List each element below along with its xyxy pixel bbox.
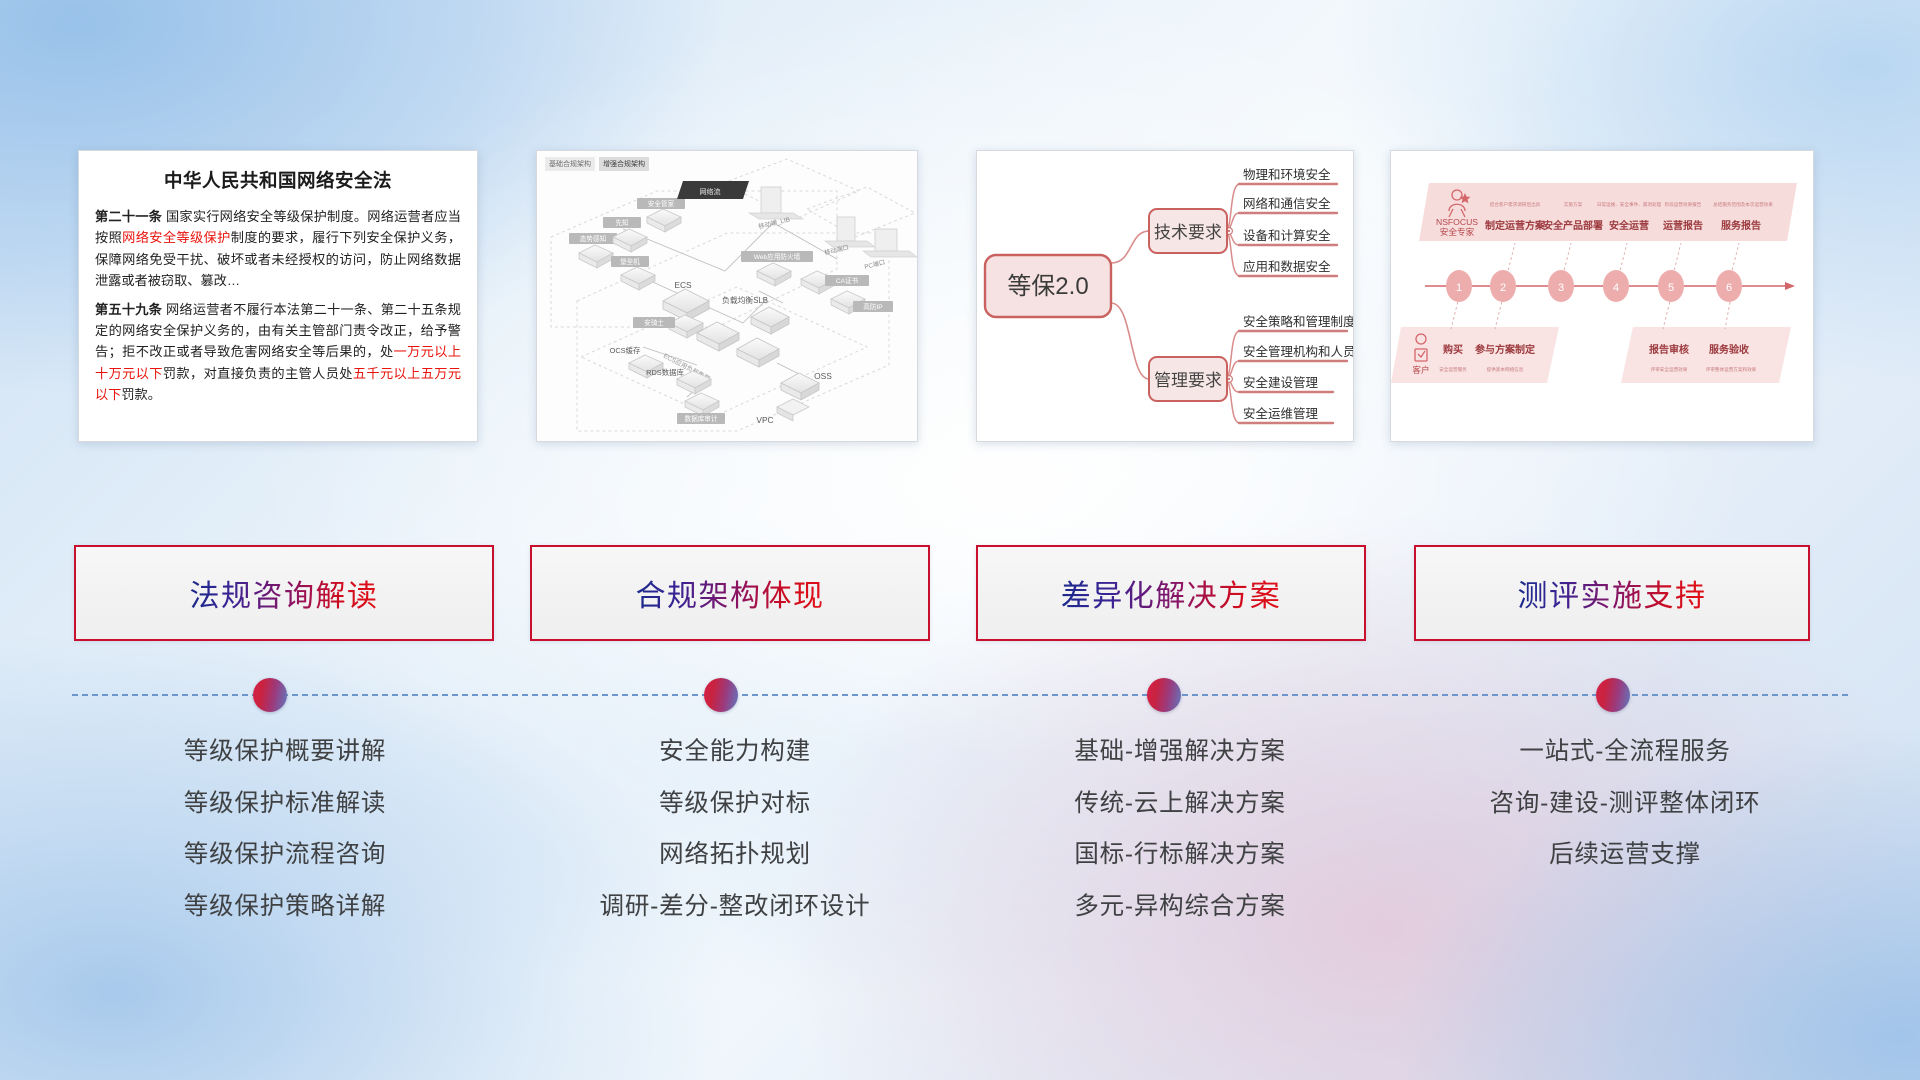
- law-paragraph-59: 第五十九条 网络运营者不履行本法第二十一条、第二十五条规定的网络安全保护义务的，…: [95, 299, 461, 406]
- svg-text:实施方案: 实施方案: [1564, 201, 1583, 208]
- list-item: 调研-差分-整改闭环设计: [520, 895, 950, 920]
- service-timeline-card[interactable]: 1 2 3 4 5 6: [1390, 150, 1814, 442]
- svg-text:6: 6: [1726, 282, 1732, 294]
- list-item: 一站式-全流程服务: [1410, 740, 1840, 765]
- svg-text:总结服务范围及本次运营效果: 总结服务范围及本次运营效果: [1713, 201, 1773, 208]
- headline-label-3: 差异化解决方案: [1061, 571, 1282, 615]
- svg-text:OCS缓存: OCS缓存: [610, 346, 641, 355]
- law-article-59-text-b: 罚款，对直接负责的主管人员处: [163, 366, 353, 381]
- list-item: 等级保护概要讲解: [70, 740, 500, 765]
- list-item: 等级保护策略详解: [70, 895, 500, 920]
- svg-text:高防IP: 高防IP: [863, 302, 883, 311]
- svg-text:安全建设管理: 安全建设管理: [1243, 375, 1319, 390]
- svg-text:安全管家: 安全管家: [648, 199, 675, 208]
- service-timeline-svg: 1 2 3 4 5 6: [1391, 151, 1814, 442]
- headline-label-2: 合规架构体现: [636, 571, 825, 615]
- svg-text:评审安全运营效果: 评审安全运营效果: [1651, 366, 1688, 373]
- svg-text:堡垒机: 堡垒机: [620, 257, 640, 266]
- svg-text:报告审核: 报告审核: [1649, 343, 1689, 356]
- headline-label-1: 法规咨询解读: [190, 571, 379, 615]
- svg-text:客户: 客户: [1412, 364, 1429, 375]
- svg-text:ECS: ECS: [674, 280, 692, 290]
- architecture-card[interactable]: 基础合规架构 增强合规架构: [536, 150, 918, 442]
- law-article-21-highlight: 网络安全等级保护: [122, 230, 231, 245]
- image-card-row: 中华人民共和国网络安全法 第二十一条 国家实行网络安全等级保护制度。网络运营者应…: [0, 150, 1920, 445]
- feature-column-3: 基础-增强解决方案 传统-云上解决方案 国标-行标解决方案 多元-异构综合方案: [965, 740, 1395, 919]
- svg-text:提供基本网络信息: 提供基本网络信息: [1487, 366, 1524, 373]
- svg-text:安骑士: 安骑士: [644, 318, 664, 327]
- svg-text:等保2.0: 等保2.0: [1007, 273, 1088, 300]
- law-article-59-label: 第五十九条: [95, 302, 166, 317]
- progress-timeline: [0, 660, 1920, 740]
- list-item: 基础-增强解决方案: [965, 740, 1395, 765]
- svg-text:阶段运营效果报告: 阶段运营效果报告: [1665, 201, 1702, 208]
- svg-text:管理要求: 管理要求: [1154, 371, 1222, 390]
- svg-text:网络流: 网络流: [700, 187, 721, 196]
- svg-text:4: 4: [1613, 282, 1619, 294]
- svg-text:应用和数据安全: 应用和数据安全: [1243, 259, 1331, 274]
- svg-text:安全管理机构和人员: 安全管理机构和人员: [1243, 344, 1354, 359]
- list-item: 等级保护对标: [520, 792, 950, 817]
- list-item: 网络拓扑规划: [520, 843, 950, 868]
- svg-text:网络和通信安全: 网络和通信安全: [1243, 196, 1331, 211]
- list-item: 等级保护流程咨询: [70, 843, 500, 868]
- svg-text:VPC: VPC: [756, 415, 773, 425]
- svg-text:日常运维、安全事件、漏洞处理: 日常运维、安全事件、漏洞处理: [1597, 201, 1662, 208]
- svg-text:结合客户需求调研后出具: 结合客户需求调研后出具: [1490, 201, 1541, 208]
- list-item: 多元-异构综合方案: [965, 895, 1395, 920]
- mindmap-svg: 等保2.0 技术要求 管理要求 物理和环境安全 网络和通信安全 设备和计算安全 …: [977, 151, 1354, 442]
- list-item: 传统-云上解决方案: [965, 792, 1395, 817]
- headline-label-4: 测评实施支持: [1518, 571, 1707, 615]
- svg-text:2: 2: [1500, 282, 1506, 294]
- svg-text:CA证书: CA证书: [836, 276, 859, 285]
- svg-text:安全运维管理: 安全运维管理: [1243, 406, 1319, 421]
- timeline-node-1[interactable]: [253, 678, 287, 712]
- headline-row: 法规咨询解读 合规架构体现 差异化解决方案 测评实施支持: [0, 545, 1920, 641]
- svg-text:制定运营方案: 制定运营方案: [1485, 219, 1546, 232]
- svg-text:安全产品部署: 安全产品部署: [1543, 219, 1603, 232]
- svg-text:物理和环境安全: 物理和环境安全: [1243, 167, 1331, 182]
- headline-box-3[interactable]: 差异化解决方案: [976, 545, 1366, 641]
- svg-text:PC端口: PC端口: [864, 258, 886, 271]
- headline-box-4[interactable]: 测评实施支持: [1414, 545, 1810, 641]
- law-article-59-text-c: 罚款。: [121, 387, 161, 402]
- svg-text:先知: 先知: [615, 218, 628, 227]
- svg-text:安全策略和管理制度: 安全策略和管理制度: [1243, 314, 1354, 329]
- service-timeline-diagram: 1 2 3 4 5 6: [1391, 151, 1813, 441]
- timeline-node-2[interactable]: [704, 678, 738, 712]
- feature-column-1: 等级保护概要讲解 等级保护标准解读 等级保护流程咨询 等级保护策略详解: [70, 740, 500, 919]
- law-card[interactable]: 中华人民共和国网络安全法 第二十一条 国家实行网络安全等级保护制度。网络运营者应…: [78, 150, 478, 442]
- list-item: 后续运营支撑: [1410, 843, 1840, 868]
- svg-text:技术要求: 技术要求: [1154, 223, 1222, 242]
- timeline-node-4[interactable]: [1596, 678, 1630, 712]
- mindmap-card[interactable]: 等保2.0 技术要求 管理要求 物理和环境安全 网络和通信安全 设备和计算安全 …: [976, 150, 1354, 442]
- law-paragraph-21: 第二十一条 国家实行网络安全等级保护制度。网络运营者应当按照网络安全等级保护制度…: [95, 206, 461, 292]
- svg-text:数据库审计: 数据库审计: [685, 414, 718, 423]
- svg-text:安全运营: 安全运营: [1609, 219, 1649, 232]
- architecture-diagram: 基础合规架构 增强合规架构: [537, 151, 917, 441]
- svg-text:服务报告: 服务报告: [1721, 219, 1761, 232]
- headline-box-2[interactable]: 合规架构体现: [530, 545, 930, 641]
- feature-list-row: 等级保护概要讲解 等级保护标准解读 等级保护流程咨询 等级保护策略详解 安全能力…: [0, 740, 1920, 970]
- svg-text:RDS数据库: RDS数据库: [646, 368, 684, 377]
- law-card-body: 中华人民共和国网络安全法 第二十一条 国家实行网络安全等级保护制度。网络运营者应…: [79, 151, 477, 441]
- law-card-title: 中华人民共和国网络安全法: [95, 167, 461, 193]
- feature-column-2: 安全能力构建 等级保护对标 网络拓扑规划 调研-差分-整改闭环设计: [520, 740, 950, 919]
- svg-text:OSS: OSS: [814, 371, 832, 381]
- svg-text:态势感知: 态势感知: [580, 234, 606, 243]
- law-article-21-label: 第二十一条: [95, 209, 166, 224]
- svg-text:Web应用防火墙: Web应用防火墙: [754, 252, 801, 261]
- svg-text:安全专家: 安全专家: [1440, 226, 1475, 237]
- svg-text:3: 3: [1558, 282, 1564, 294]
- timeline-dashed-line: [72, 694, 1848, 696]
- architecture-svg: 态势感知 先知: [537, 151, 918, 442]
- list-item: 国标-行标解决方案: [965, 843, 1395, 868]
- svg-text:NSFOCUS: NSFOCUS: [1436, 217, 1478, 227]
- slide-stage: 中华人民共和国网络安全法 第二十一条 国家实行网络安全等级保护制度。网络运营者应…: [0, 0, 1920, 1080]
- headline-box-1[interactable]: 法规咨询解读: [74, 545, 494, 641]
- list-item: 咨询-建设-测评整体闭环: [1410, 792, 1840, 817]
- svg-text:服务验收: 服务验收: [1709, 343, 1749, 356]
- list-item: 等级保护标准解读: [70, 792, 500, 817]
- svg-text:参与方案制定: 参与方案制定: [1475, 343, 1535, 356]
- svg-text:评审整体运营方案和效果: 评审整体运营方案和效果: [1706, 366, 1757, 373]
- svg-text:设备和计算安全: 设备和计算安全: [1243, 228, 1331, 243]
- mindmap-diagram: 等保2.0 技术要求 管理要求 物理和环境安全 网络和通信安全 设备和计算安全 …: [977, 151, 1353, 441]
- list-item: 安全能力构建: [520, 740, 950, 765]
- svg-text:1: 1: [1456, 282, 1462, 294]
- svg-text:安全运营服务: 安全运营服务: [1439, 366, 1467, 373]
- svg-text:运营报告: 运营报告: [1663, 219, 1703, 232]
- feature-column-4: 一站式-全流程服务 咨询-建设-测评整体闭环 后续运营支撑: [1410, 740, 1840, 868]
- svg-text:5: 5: [1668, 282, 1674, 294]
- svg-text:购买: 购买: [1443, 343, 1463, 356]
- svg-text:负载均衡SLB: 负载均衡SLB: [722, 295, 768, 305]
- timeline-node-3[interactable]: [1147, 678, 1181, 712]
